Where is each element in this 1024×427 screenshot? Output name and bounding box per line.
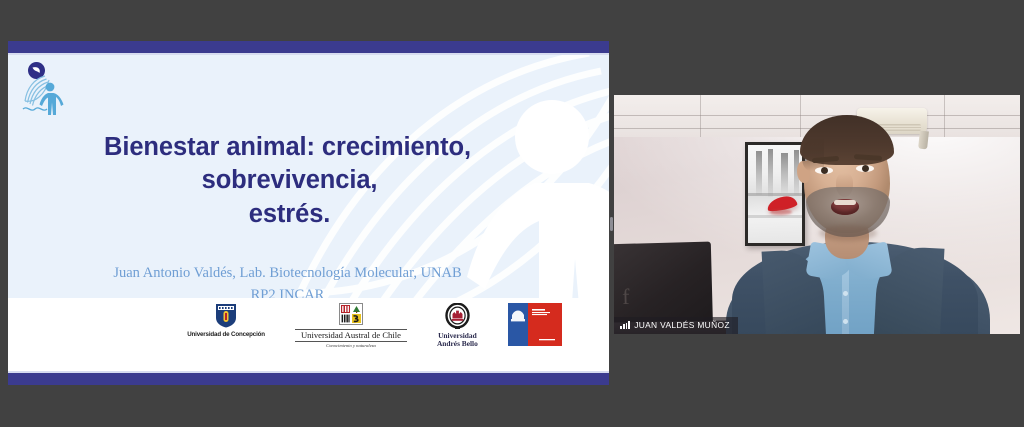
udec-name: Universidad de Concepción [187, 331, 265, 338]
chin-shadow [819, 225, 877, 241]
eye-left [815, 167, 833, 174]
meeting-window: Bienestar animal: crecimiento, sobrevive… [0, 0, 1024, 427]
signal-bars-icon [620, 321, 630, 329]
logo-universidad-andres-bello: Universidad Andrés Bello [437, 303, 478, 349]
uach-crest-icon [339, 303, 363, 325]
unab-seal-icon [445, 303, 470, 330]
logo-universidad-austral-de-chile: Universidad Austral de Chile Conocimient… [295, 303, 407, 348]
uach-name: Universidad Austral de Chile [295, 329, 407, 342]
udec-shield-icon [215, 303, 237, 328]
eye-right [856, 165, 874, 172]
participant-name-label: JUAN VALDÉS MUÑOZ [614, 317, 738, 334]
slide-title-line-1: Bienestar animal: crecimiento, [42, 131, 533, 164]
participant-person [614, 95, 1020, 334]
slide-sponsor-logos: Universidad de Concepción [8, 303, 609, 365]
shared-screen-slide[interactable]: Bienestar animal: crecimiento, sobrevive… [8, 41, 609, 385]
participant-video-tile[interactable]: f [614, 95, 1020, 334]
incar-logo [19, 61, 65, 119]
shirt-button [843, 319, 848, 324]
uach-tagline: Conocimiento y naturaleza [326, 343, 376, 348]
slide-body: Bienestar animal: crecimiento, sobrevive… [8, 55, 609, 371]
participant-name: JUAN VALDÉS MUÑOZ [634, 320, 730, 330]
slide-title-line-2: sobrevivencia, [42, 164, 533, 197]
slide-title-line-3: estrés. [42, 198, 533, 231]
gobierno-de-chile-icon [508, 303, 562, 346]
unab-name-line-2: Andrés Bello [437, 339, 478, 348]
slide-bottom-band [8, 373, 609, 385]
logo-universidad-de-concepcion: Universidad de Concepción [187, 303, 265, 338]
mouth [831, 199, 859, 215]
slide-title: Bienestar animal: crecimiento, sobrevive… [42, 131, 533, 231]
slide-subtitle-line-1: Juan Antonio Valdés, Lab. Biotecnología … [42, 262, 533, 284]
shirt-button [843, 291, 848, 296]
unab-name: Universidad Andrés Bello [437, 332, 478, 349]
panel-resize-handle[interactable] [610, 217, 613, 231]
logo-gobierno-de-chile [508, 303, 562, 346]
slide-top-band [8, 41, 609, 53]
